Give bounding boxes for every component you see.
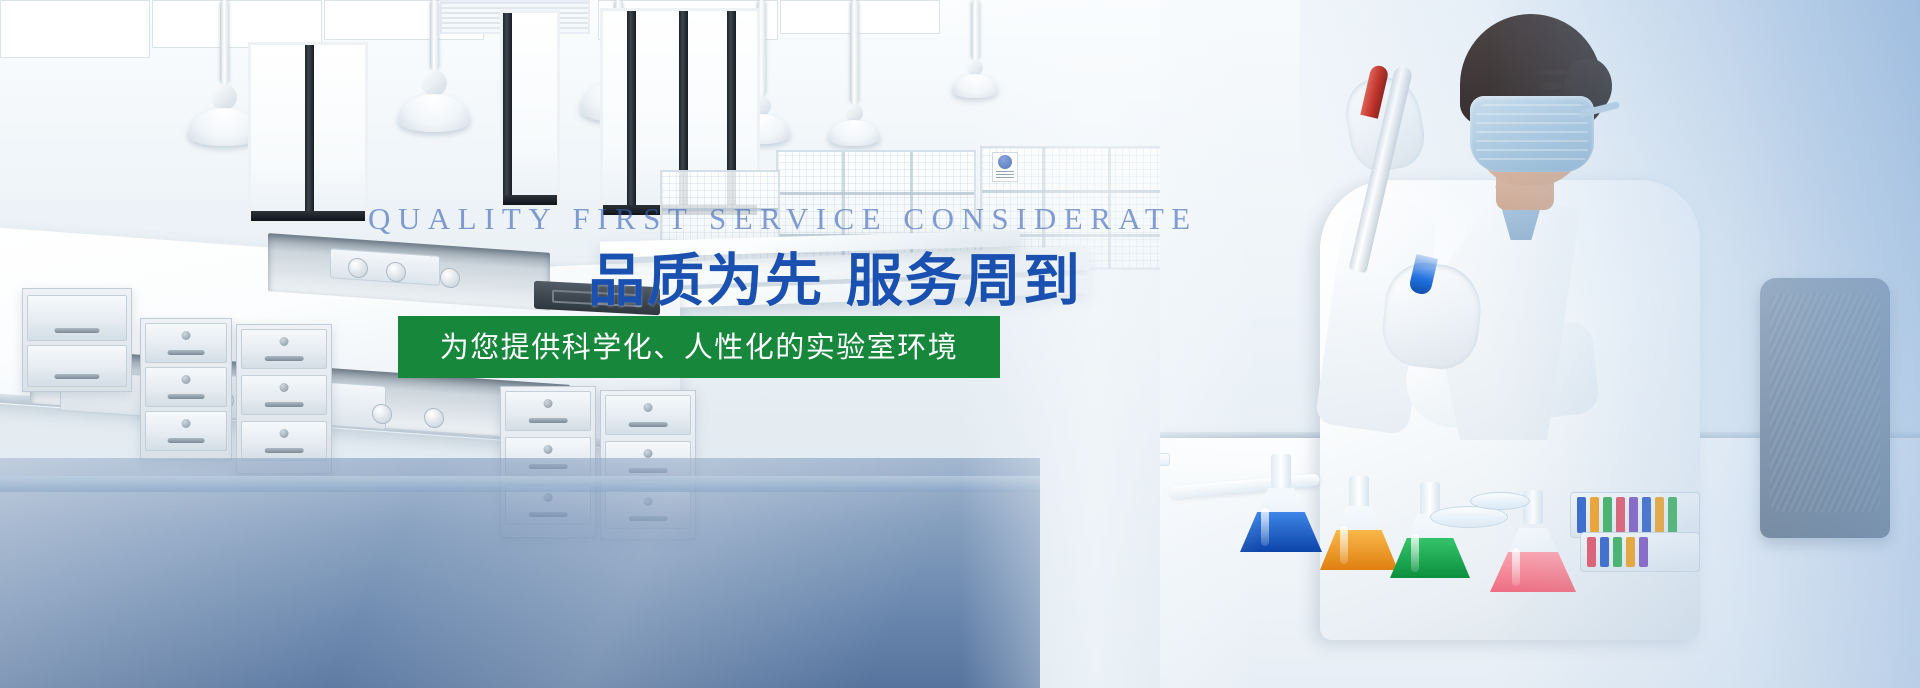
drawer-lock [182,419,191,428]
conical-flask-orange [1320,476,1398,570]
small-vial [1160,453,1170,466]
bench-service-knob [386,261,406,282]
drawer-lock [182,375,191,384]
drawer [145,323,227,363]
floor-cove-base [0,476,1040,492]
drawer-handle [265,356,304,361]
window [500,10,560,208]
scientist-scene [1160,0,1920,688]
safety-sign-symbol [998,155,1012,169]
conical-flask-blue [1240,454,1322,552]
conical-flask-green [1390,482,1470,578]
drawer-handle [168,438,205,443]
drawer [505,391,591,431]
flask-highlight [1261,508,1269,546]
drawer-lock [280,383,289,392]
drawer-lock [644,403,653,412]
drawer-lock [544,399,553,408]
drawer [145,411,227,451]
flask-liquid [1240,512,1322,552]
drawer [241,329,327,369]
flask-liquid [1320,530,1398,570]
drawer-bank [140,318,232,460]
ceiling-panel [0,0,150,58]
banner-english-tagline: QUALITY FIRST SERVICE CONSIDERATE [368,203,1198,234]
drawer-handle [529,418,568,423]
drawer-lock [544,445,553,454]
safety-sign [992,152,1018,182]
banner-subtitle-text: 为您提供科学化、人性化的实验室环境 [440,333,959,362]
drawer [241,421,327,461]
banner-headline: 品质为先 服务周到 [588,251,1082,313]
drawer [27,295,127,341]
bench-service-knob [424,407,444,428]
flask-liquid [1390,538,1470,578]
fume-extractor-arm [826,0,882,146]
drawer-handle [168,350,205,355]
fume-extractor-arm [398,0,470,132]
drawer-bank [22,288,132,392]
drawer-handle [629,422,668,427]
bench-service-knob [440,267,460,288]
drawer-handle [54,374,99,379]
flask-neck [1271,454,1291,488]
scene-blue-tint [1490,0,1920,688]
drawer-handle [265,448,304,453]
bench-service-knob [372,403,392,424]
flask-highlight [1411,534,1419,572]
drawer-handle [265,402,304,407]
bench-service-knob [348,257,368,278]
drawer-handle [168,394,205,399]
window [248,42,368,224]
drawer [241,375,327,415]
drawer [145,367,227,407]
drawer-lock [644,449,653,458]
floor-reflection [0,458,1040,688]
safety-sign-text-lines [996,171,1014,180]
flask-highlight [1340,526,1348,564]
flask-neck [1349,476,1369,510]
drawer-lock [280,429,289,438]
drawer [605,395,691,435]
drawer-handle [54,328,99,333]
fume-extractor-arm [950,0,1000,98]
hero-banner: QUALITY FIRST SERVICE CONSIDERATE 品质为先 服… [0,0,1920,688]
drawer [27,345,127,387]
banner-subtitle-bar: 为您提供科学化、人性化的实验室环境 [398,316,1000,378]
drawer-bank [236,324,332,474]
drawer-lock [182,331,191,340]
drawer-lock [280,337,289,346]
